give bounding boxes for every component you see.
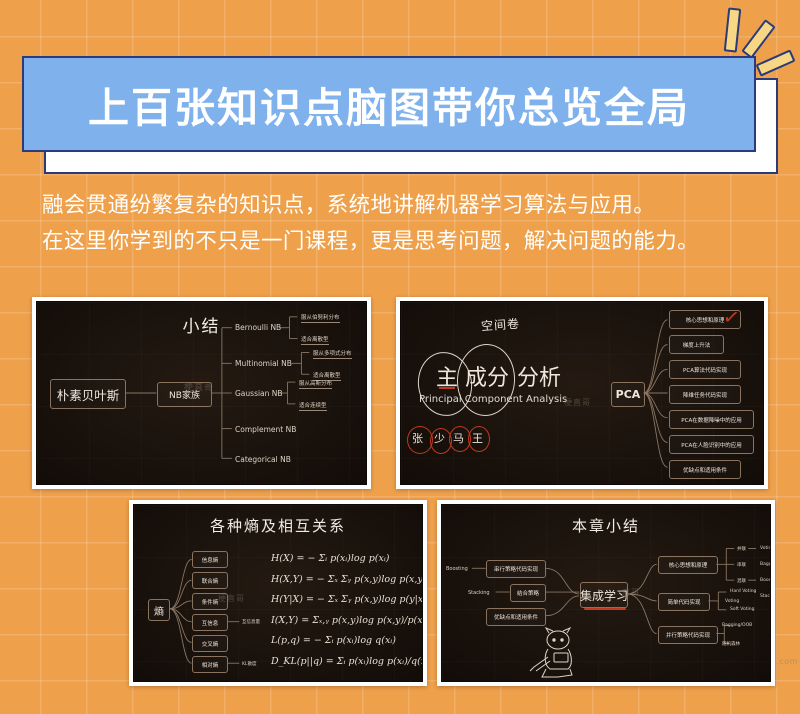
node-left-branch: 优缺点和适用条件 xyxy=(486,608,546,626)
header-banner: 上百张知识点脑图带你总览全局 xyxy=(22,56,756,156)
subtitle-line-2: 在这里你学到的不只是一门课程，更是思考问题，解决问题的能力。 xyxy=(42,224,772,260)
leaf-sub-label: 服从多项式分布 xyxy=(313,349,352,359)
group-item: Bagging xyxy=(760,562,771,567)
formula: H(X) = − Σᵢ p(xᵢ)log p(xᵢ) xyxy=(271,549,423,570)
group-item: Hard Voting xyxy=(730,589,756,594)
check-icon: ✓ xyxy=(721,304,741,330)
branch-tag: Stacking xyxy=(468,590,490,596)
group-item: Boosting xyxy=(760,578,771,583)
node-child: 互信息 xyxy=(192,614,228,631)
leaf-sub-label: 适合离散型 xyxy=(301,335,329,345)
leaf-label: Categorical NB xyxy=(235,455,291,464)
slide-canvas: 空间卷 主 成分 分析 Principal Component Analysis… xyxy=(400,301,764,485)
banner-box: 上百张知识点脑图带你总览全局 xyxy=(22,56,756,152)
node-root: 集成学习 xyxy=(580,582,628,608)
red-underline xyxy=(584,608,626,610)
formula: H(X,Y) = − Σₓ Σᵧ p(x,y)log p(x,y) xyxy=(271,570,423,591)
leaf-label: Complement NB xyxy=(235,425,296,434)
mascot-doodle-icon xyxy=(524,627,586,681)
node-branch: NB家族 xyxy=(157,382,212,407)
node-child: 交叉熵 xyxy=(192,635,228,652)
slide-canvas: 本章小结 集成学习 直哥 xyxy=(441,504,771,682)
leaf-sub-label: 适合连续型 xyxy=(299,401,327,411)
branch-tag: Boosting xyxy=(446,566,468,572)
node-left-branch: 串行策略代码实现 xyxy=(486,560,546,578)
node-child: PCA算法代码实现 xyxy=(669,360,741,379)
leaf-sub-label: 服从高斯分布 xyxy=(299,379,332,389)
node-child: 联合熵 xyxy=(192,572,228,589)
group-item: Bagging/OOB xyxy=(722,623,752,628)
group-tag: Voting xyxy=(725,599,739,604)
node-child: PCA在数据降噪中的应用 xyxy=(669,410,754,429)
node-right-branch: 并行策略代码实现 xyxy=(658,626,718,644)
formula: D_KL(p||q) = Σᵢ p(xᵢ)log p(xᵢ)/q(xᵢ) xyxy=(271,652,423,673)
corner-watermark: .com xyxy=(776,657,798,666)
formula: H(Y|X) = − Σₓ Σᵧ p(x,y)log p(y|x) xyxy=(271,590,423,611)
leaf-label: Multinomial NB xyxy=(235,359,292,368)
group-item: Stacking xyxy=(760,594,771,599)
group-item: Soft Voting xyxy=(730,607,755,612)
subtitle-block: 融会贯通纷繁复杂的知识点，系统地讲解机器学习算法与应用。 在这里你学到的不只是一… xyxy=(42,188,772,260)
page-title: 上百张知识点脑图带你总览全局 xyxy=(88,74,690,134)
slide-canvas: 各种熵及相互关系 梗直哥 熵 信息熵 联合熵 条件熵 互信息 交叉熵 相对熵 互… xyxy=(133,504,423,682)
node-child: 优缺点和适用条件 xyxy=(669,460,741,479)
leaf-label: Bernoulli NB xyxy=(235,323,281,332)
node-child: 条件熵 xyxy=(192,593,228,610)
formula: I(X,Y) = Σₓ,ᵧ p(x,y)log p(x,y)/p(x)p(y) xyxy=(271,611,423,632)
node-child: PCA在人脸识别中的应用 xyxy=(669,435,754,454)
node-left-branch: 结合策略 xyxy=(510,584,546,602)
slide-thumbnail-pca[interactable]: 空间卷 主 成分 分析 Principal Component Analysis… xyxy=(396,297,768,489)
node-child: 相对熵 xyxy=(192,656,228,673)
node-child: 信息熵 xyxy=(192,551,228,568)
slide-thumbnail-entropy[interactable]: 各种熵及相互关系 梗直哥 熵 信息熵 联合熵 条件熵 互信息 交叉熵 相对熵 互… xyxy=(129,500,427,686)
node-root: 朴素贝叶斯 xyxy=(50,379,126,409)
formula: L(p,q) = − Σᵢ p(xᵢ)log q(xᵢ) xyxy=(271,631,423,652)
node-root: 熵 xyxy=(148,599,170,621)
leaf-label: Gaussian NB xyxy=(235,389,283,398)
group-tag: 并联 xyxy=(737,546,746,552)
leaf-sub-label: 服从伯努利分布 xyxy=(301,313,340,323)
group-item: 随机森林 xyxy=(722,641,740,647)
subtitle-line-1: 融会贯通纷繁复杂的知识点，系统地讲解机器学习算法与应用。 xyxy=(42,188,772,224)
slide-thumbnail-naive-bayes[interactable]: 小结 梗直哥 朴素贝叶斯 NB家族 Bernoulli NB xyxy=(32,297,371,489)
node-child: 降维任务代码实现 xyxy=(669,385,741,404)
node-root: PCA xyxy=(611,382,645,407)
slide-thumbnail-ensemble[interactable]: 本章小结 集成学习 直哥 xyxy=(437,500,775,686)
node-child: 梯度上升法 xyxy=(669,335,724,354)
leaf-note: 互信息量 xyxy=(242,619,260,625)
leaf-note: KL散度 xyxy=(242,661,256,667)
slide-canvas: 小结 梗直哥 朴素贝叶斯 NB家族 Bernoulli NB xyxy=(36,301,367,485)
group-tag: 混联 xyxy=(737,578,746,584)
group-item: Voting xyxy=(760,546,771,551)
node-right-branch: 简单代码实现 xyxy=(658,593,710,611)
node-right-branch: 核心思想和原理 xyxy=(658,556,718,574)
group-tag: 串联 xyxy=(737,562,746,568)
